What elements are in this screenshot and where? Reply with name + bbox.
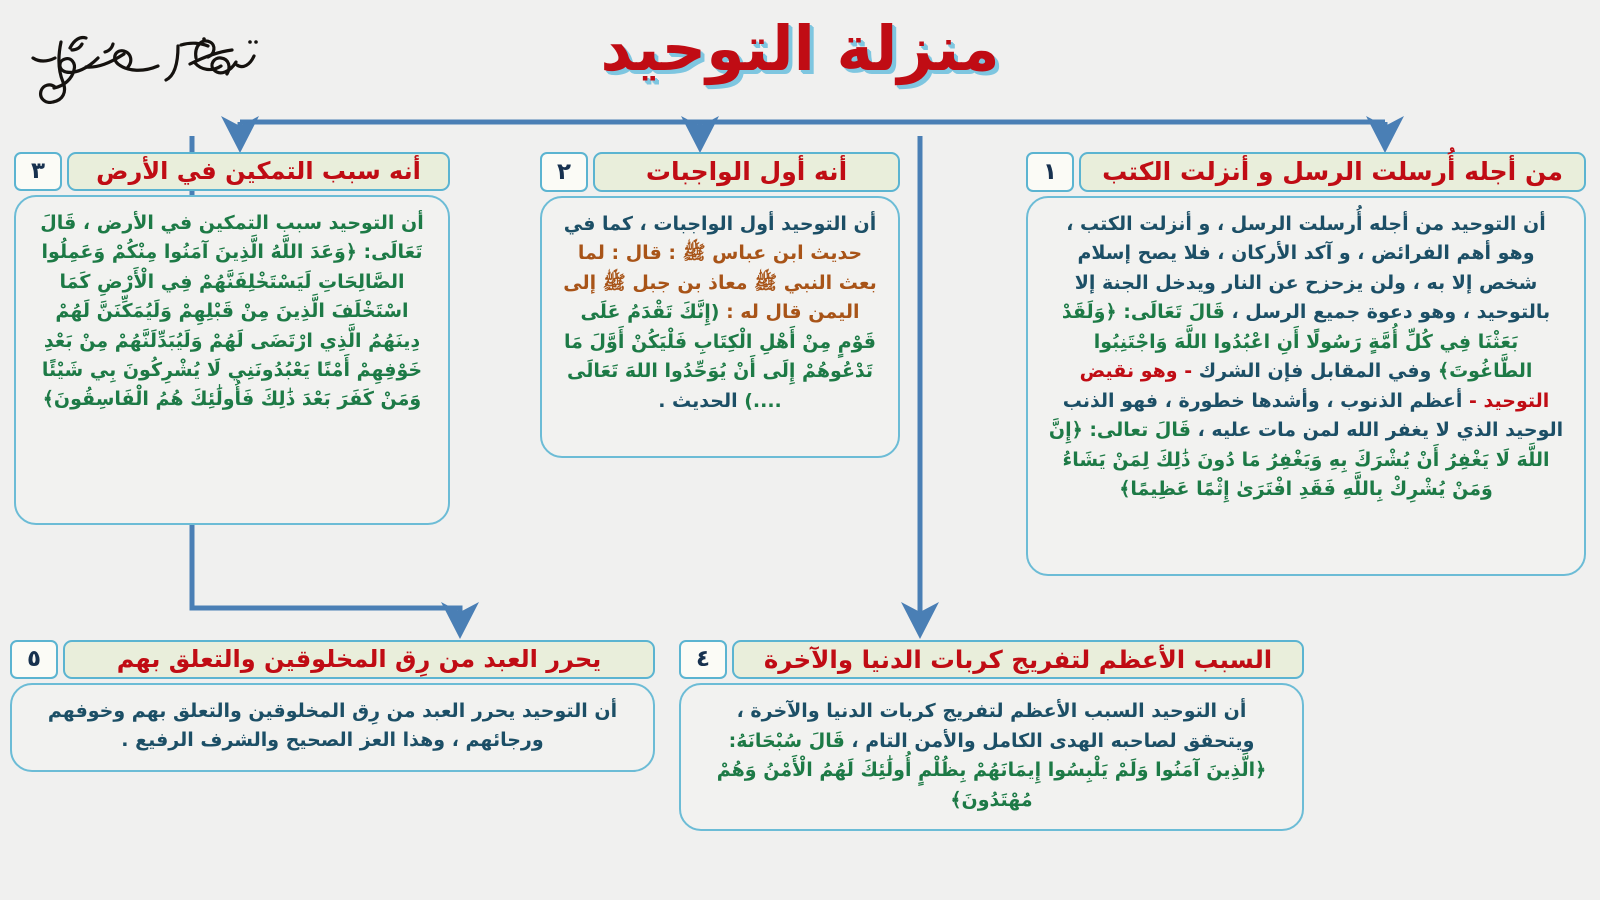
body-paragraph: أن التوحيد يحرر العبد من رِق المخلوقين و… — [30, 697, 635, 756]
text-segment-1: أن التوحيد سبب التمكين في الأرض ، قَالَ … — [40, 212, 423, 411]
text-segment-1: أن التوحيد أول الواجبات ، كما في — [564, 213, 877, 235]
body-paragraph: أن التوحيد السبب الأعظم لتفريج كربات الد… — [699, 697, 1284, 815]
node-2-badge: ٢ — [540, 152, 588, 192]
page-title: منزلة التوحيد — [600, 10, 999, 88]
text-segment-3: وفي المقابل فإن الشرك — [1192, 360, 1431, 382]
node-4-badge: ٤ — [679, 640, 727, 679]
node-4-body: أن التوحيد السبب الأعظم لتفريج كربات الد… — [679, 683, 1304, 831]
node-5-title: يحرر العبد من رِق المخلوقين والتعلق بهم — [63, 640, 655, 679]
node-1-header-row: ١ من أجله أُرسلت الرسل و أنزلت الكتب — [1026, 152, 1586, 192]
node-4-header-row: ٤ السبب الأعظم لتفريج كربات الدنيا والآخ… — [679, 640, 1304, 679]
node-5-body: أن التوحيد يحرر العبد من رِق المخلوقين و… — [10, 683, 655, 772]
text-segment-4: الحديث . — [658, 390, 737, 412]
node-1-title: من أجله أُرسلت الرسل و أنزلت الكتب — [1079, 152, 1586, 192]
node-3[interactable]: ٣ أنه سبب التمكين في الأرض أن التوحيد سب… — [14, 152, 450, 525]
node-2-title: أنه أول الواجبات — [593, 152, 900, 192]
node-3-header-row: ٣ أنه سبب التمكين في الأرض — [14, 152, 450, 191]
body-paragraph: أن التوحيد من أجله أُرسلت الرسل ، و أنزل… — [1046, 210, 1566, 504]
node-5-badge: ٥ — [10, 640, 58, 679]
node-2[interactable]: ٢ أنه أول الواجبات أن التوحيد أول الواجب… — [540, 152, 900, 458]
author-signature — [18, 14, 268, 104]
node-3-badge: ٣ — [14, 152, 62, 191]
node-4[interactable]: ٤ السبب الأعظم لتفريج كربات الدنيا والآخ… — [679, 640, 1304, 831]
node-4-title: السبب الأعظم لتفريج كربات الدنيا والآخرة — [732, 640, 1304, 679]
node-3-title: أنه سبب التمكين في الأرض — [67, 152, 450, 191]
infographic-canvas: منزلة التوحيد ١ من أجله أُرسلت الرسل — [0, 0, 1600, 900]
node-5-header-row: ٥ يحرر العبد من رِق المخلوقين والتعلق به… — [10, 640, 655, 679]
node-2-body: أن التوحيد أول الواجبات ، كما في حديث اب… — [540, 196, 900, 458]
body-paragraph: أن التوحيد أول الواجبات ، كما في حديث اب… — [560, 210, 880, 416]
node-1[interactable]: ١ من أجله أُرسلت الرسل و أنزلت الكتب أن … — [1026, 152, 1586, 576]
text-segment-1: أن التوحيد يحرر العبد من رِق المخلوقين و… — [48, 700, 617, 751]
node-1-badge: ١ — [1026, 152, 1074, 192]
node-5[interactable]: ٥ يحرر العبد من رِق المخلوقين والتعلق به… — [10, 640, 655, 772]
node-2-header-row: ٢ أنه أول الواجبات — [540, 152, 900, 192]
body-paragraph: أن التوحيد سبب التمكين في الأرض ، قَالَ … — [34, 209, 430, 415]
node-3-body: أن التوحيد سبب التمكين في الأرض ، قَالَ … — [14, 195, 450, 525]
node-1-body: أن التوحيد من أجله أُرسلت الرسل ، و أنزل… — [1026, 196, 1586, 576]
